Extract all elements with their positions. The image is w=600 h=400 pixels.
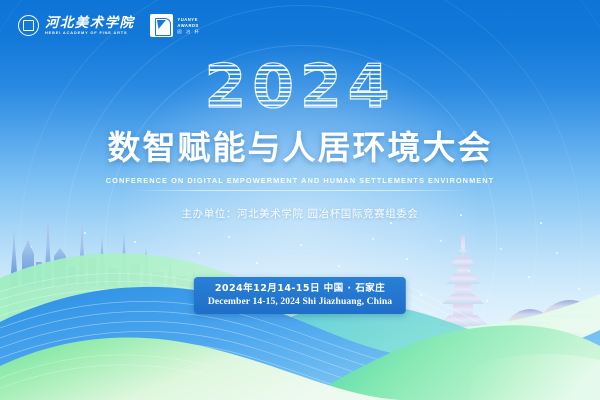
year-heading: 2024: [0, 56, 600, 118]
title-divider: [130, 190, 470, 191]
header-logos: 河北美术学院 HEBEI ACADEMY OF FINE ARTS YUANYE…: [18, 14, 200, 37]
conference-banner: 河北美术学院 HEBEI ACADEMY OF FINE ARTS YUANYE…: [0, 0, 600, 400]
conference-title-cn: 数智赋能与人居环境大会: [0, 128, 600, 168]
university-name-cn: 河北美术学院: [45, 16, 134, 30]
yuanye-award-mark-icon: [150, 14, 173, 37]
award-name-cn: 园 冶 杯: [177, 30, 200, 34]
university-name-en: HEBEI ACADEMY OF FINE ARTS: [45, 31, 134, 35]
year-text: 2024: [205, 56, 396, 118]
conference-title-en: CONFERENCE ON DIGITAL EMPOWERMENT AND HU…: [0, 176, 600, 186]
award-name-en-line1: YUANYE: [177, 17, 200, 22]
title-block: 数智赋能与人居环境大会 CONFERENCE ON DIGITAL EMPOWE…: [0, 128, 600, 191]
award-logo[interactable]: YUANYE AWARDS 园 冶 杯: [150, 14, 200, 37]
university-seal-icon: [18, 15, 39, 36]
award-name-en-line2: AWARDS: [177, 23, 200, 28]
organizer-line: 主办单位：河北美术学院 园冶杯国际竞赛组委会: [0, 206, 600, 221]
event-date-cn: 2024年12月14-15日 中国 · 石家庄: [208, 282, 392, 295]
event-date-badge: 2024年12月14-15日 中国 · 石家庄 December 14-15, …: [194, 277, 406, 314]
event-date-en: December 14-15, 2024 Shi Jiazhuang, Chin…: [208, 295, 392, 308]
university-logo[interactable]: 河北美术学院 HEBEI ACADEMY OF FINE ARTS: [18, 15, 134, 36]
